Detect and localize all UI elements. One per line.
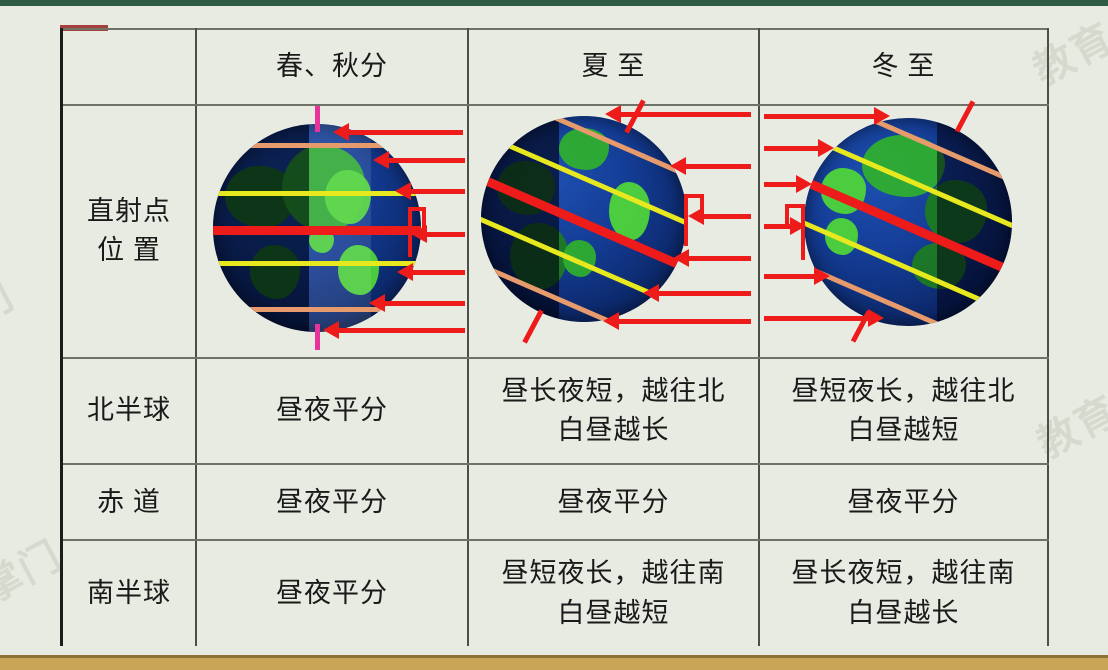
subsolar-marker-bracket-end	[700, 194, 704, 218]
sunray-arrow	[411, 270, 465, 275]
subsolar-marker-bracket-end	[785, 204, 789, 228]
cell-text-line1: 昼夜平分	[198, 574, 466, 613]
cell-text-line2: 白昼越长	[470, 411, 757, 450]
cell-text-line1: 昼短夜长，越往北	[761, 372, 1046, 411]
earth-summer-solstice-figure	[469, 106, 758, 357]
table-row-subsolar-point: 直射点 位 置	[62, 105, 1049, 358]
row-label-line2: 位 置	[64, 231, 194, 270]
cell-equator-winter: 昼夜平分	[759, 464, 1048, 540]
sunray-arrow	[383, 301, 465, 306]
sunray-arrow	[617, 319, 751, 324]
subsolar-marker-vertical	[684, 194, 688, 246]
cell-winter-solstice-diagram	[759, 105, 1048, 358]
sunray-arrow	[657, 291, 751, 296]
cell-text-line1: 昼长夜短，越往南	[761, 554, 1046, 593]
equator-line	[213, 226, 421, 235]
table-row-northern-hemisphere: 北半球 昼夜平分 昼长夜短，越往北 白昼越长 昼短夜长，越往北 白昼越短	[62, 358, 1049, 465]
sunray-arrow	[409, 189, 465, 194]
cell-text-line2: 白昼越短	[470, 594, 757, 633]
tropic-of-cancer-line	[213, 191, 421, 196]
sunray-arrow	[764, 182, 798, 187]
row-label-subsolar-point: 直射点 位 置	[62, 105, 197, 358]
row-label-southern-hemisphere: 南半球	[62, 540, 197, 646]
arctic-circle-line	[213, 143, 421, 148]
header-summer-solstice: 夏 至	[468, 29, 759, 105]
cell-north-equinox: 昼夜平分	[196, 358, 468, 465]
cell-text-line1: 昼夜平分	[198, 391, 466, 430]
header-equinox: 春、秋分	[196, 29, 468, 105]
sunray-arrow	[337, 328, 465, 333]
subsolar-marker-vertical	[801, 204, 805, 260]
earth-equinox-figure	[197, 106, 467, 357]
cell-equator-summer: 昼夜平分	[468, 464, 759, 540]
cell-south-summer: 昼短夜长，越往南 白昼越短	[468, 540, 759, 646]
row-label-line1: 直射点	[64, 192, 194, 231]
earth-winter-solstice-figure	[760, 106, 1047, 357]
sunray-arrow	[687, 256, 751, 261]
earth-axis-equinox	[315, 106, 320, 132]
subsolar-marker-vertical	[408, 207, 412, 257]
sunray-arrow	[387, 158, 465, 163]
cell-equator-equinox: 昼夜平分	[196, 464, 468, 540]
tropic-of-capricorn-line	[213, 261, 421, 266]
header-corner-cell	[62, 29, 197, 105]
slide-top-bar	[0, 0, 1108, 6]
sunray-arrow	[347, 130, 463, 135]
sunray-arrow	[764, 316, 870, 321]
row-label-northern-hemisphere: 北半球	[62, 358, 197, 465]
header-winter-solstice: 冬 至	[759, 29, 1048, 105]
cell-north-summer: 昼长夜短，越往北 白昼越长	[468, 358, 759, 465]
seasons-comparison-table: 春、秋分 夏 至 冬 至 直射点 位 置	[60, 28, 1049, 646]
table-header-row: 春、秋分 夏 至 冬 至	[62, 29, 1049, 105]
cell-summer-solstice-diagram	[468, 105, 759, 358]
sunray-arrow-equator	[425, 232, 465, 237]
cell-equinox-diagram	[196, 105, 468, 358]
cell-text-line1: 昼短夜长，越往南	[470, 554, 757, 593]
globe-winter-solstice	[804, 118, 1012, 326]
table-row-equator: 赤 道 昼夜平分 昼夜平分 昼夜平分	[62, 464, 1049, 540]
sunray-arrow	[619, 112, 751, 117]
sunray-arrow	[684, 164, 751, 169]
watermark-left-top: 门	[0, 264, 23, 335]
table-row-southern-hemisphere: 南半球 昼夜平分 昼短夜长，越往南 白昼越短 昼长夜短，越往南 白昼越长	[62, 540, 1049, 646]
sunray-arrow-subsolar	[702, 214, 751, 219]
cell-text-line1: 昼长夜短，越往北	[470, 372, 757, 411]
sunray-arrow	[764, 146, 820, 151]
cell-south-winter: 昼长夜短，越往南 白昼越长	[759, 540, 1048, 646]
cell-text-line2: 白昼越长	[761, 594, 1046, 633]
row-label-equator: 赤 道	[62, 464, 197, 540]
subsolar-marker-bracket-end	[422, 207, 426, 231]
earth-axis-equinox	[315, 324, 320, 350]
cell-text-line2: 白昼越短	[761, 411, 1046, 450]
sunray-arrow	[764, 114, 876, 119]
sunray-arrow	[764, 274, 816, 279]
cell-north-winter: 昼短夜长，越往北 白昼越短	[759, 358, 1048, 465]
slide-bottom-bar	[0, 655, 1108, 670]
antarctic-circle-line	[213, 307, 421, 312]
cell-south-equinox: 昼夜平分	[196, 540, 468, 646]
